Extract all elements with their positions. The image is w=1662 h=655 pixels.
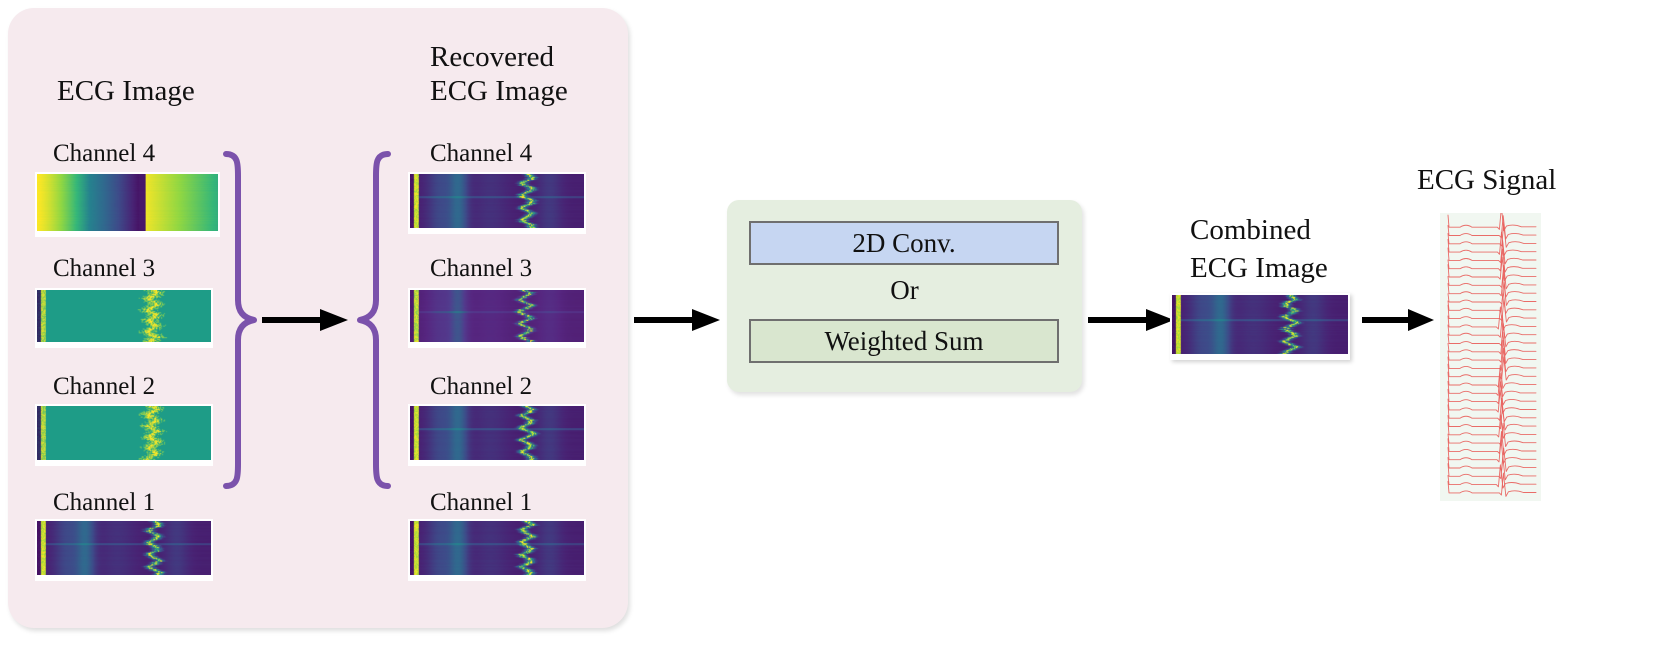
recovered-channel-1-heatmap <box>408 519 586 581</box>
recovered-channel-4-heatmap <box>408 172 586 234</box>
recovered-channel-2-label: Channel 2 <box>430 373 532 401</box>
combination-module: 2D Conv. Or Weighted Sum <box>727 200 1082 392</box>
source-channel-2-label: Channel 2 <box>53 373 155 401</box>
ecg-signal-title: ECG Signal <box>1417 163 1556 197</box>
panel-title-recovered-line1: Recovered <box>430 40 554 74</box>
panel-title-recovered-line2: ECG Image <box>430 74 568 108</box>
recovered-channel-2-heatmap <box>408 404 586 466</box>
source-channel-4-label: Channel 4 <box>53 140 155 168</box>
recovered-group-brace <box>356 150 392 490</box>
option-weighted-sum-label: Weighted Sum <box>824 326 983 357</box>
recovered-channel-3-label: Channel 3 <box>430 255 532 283</box>
diagram-canvas: ECG Image Recovered ECG Image Channel 4 … <box>0 0 1662 655</box>
recovered-channel-4-label: Channel 4 <box>430 140 532 168</box>
option-separator: Or <box>727 270 1082 310</box>
option-2d-conv[interactable]: 2D Conv. <box>749 221 1059 265</box>
source-channel-1-label: Channel 1 <box>53 489 155 517</box>
source-channel-1-heatmap <box>35 519 213 581</box>
ecg-signal-plot <box>1440 213 1541 501</box>
arrow-panel-to-module <box>634 306 720 334</box>
combined-label-line1: Combined <box>1190 213 1311 247</box>
combined-label-line2: ECG Image <box>1190 251 1328 285</box>
arrow-combined-to-signal <box>1362 306 1434 334</box>
source-channel-2-heatmap <box>35 404 213 466</box>
arrow-module-to-combined <box>1088 306 1174 334</box>
recovered-channel-1-label: Channel 1 <box>430 489 532 517</box>
source-channel-4-heatmap <box>35 172 220 237</box>
source-channel-3-label: Channel 3 <box>53 255 155 283</box>
source-channel-3-heatmap <box>35 288 213 348</box>
option-weighted-sum[interactable]: Weighted Sum <box>749 319 1059 363</box>
panel-title-ecg-image: ECG Image <box>57 74 195 108</box>
source-group-brace <box>222 150 258 490</box>
option-2d-conv-label: 2D Conv. <box>852 228 955 259</box>
recovered-channel-3-heatmap <box>408 288 586 348</box>
arrow-source-to-recovered <box>262 306 348 334</box>
combined-ecg-heatmap <box>1170 293 1350 360</box>
option-separator-label: Or <box>890 275 919 306</box>
